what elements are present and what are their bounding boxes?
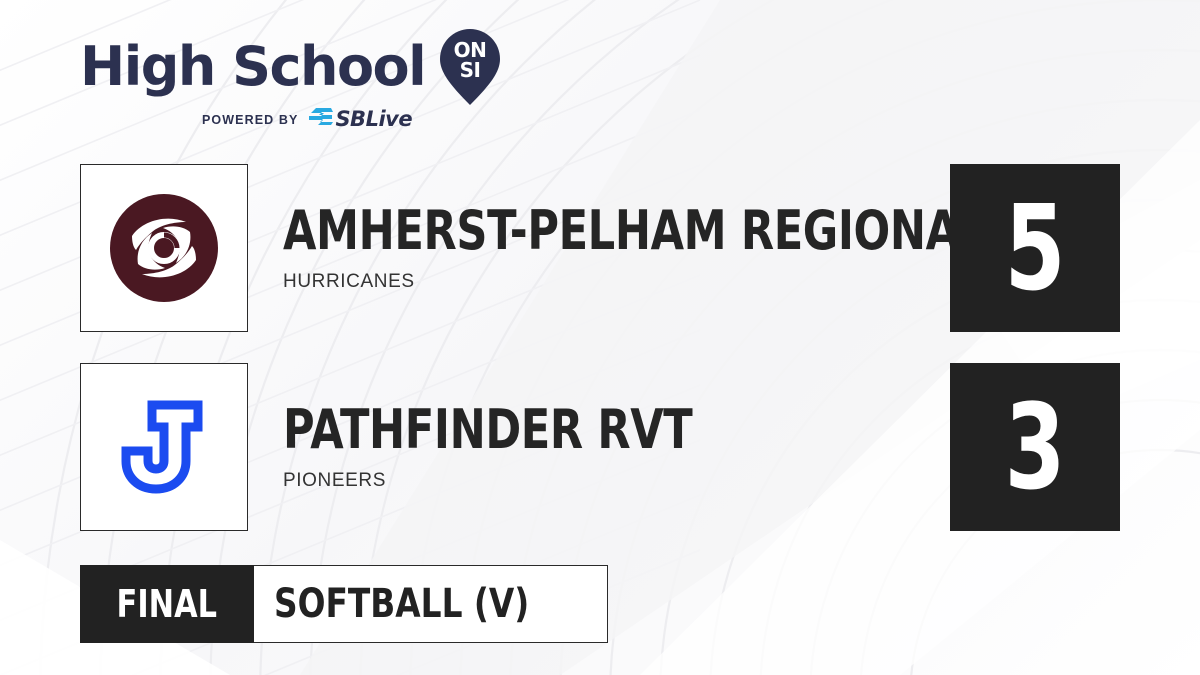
team-text-block: PATHFINDER RVT PIONEERS (283, 363, 795, 531)
sblive-s-mark-icon (307, 106, 333, 133)
team-row: AMHERST-PELHAM REGIONAL HURRICANES 5 (80, 164, 1120, 334)
scoreboard-graphic: High School ON SI POWERED BY SBLive (0, 0, 1200, 675)
on-si-pin-icon: ON SI (437, 27, 503, 107)
team-score-box: 5 (950, 164, 1120, 332)
svg-text:SI: SI (460, 58, 481, 82)
team-logo-tile (80, 363, 248, 531)
team-name: PATHFINDER RVT (283, 402, 692, 458)
sport-label-box: SOFTBALL (V) (254, 565, 608, 643)
team-score: 5 (1005, 189, 1066, 307)
team-logo-tile (80, 164, 248, 332)
varsity-letter-j-logo-icon (108, 391, 220, 503)
sblive-logo: SBLive (307, 106, 412, 133)
brand-wordmark: High School (80, 37, 425, 97)
brand-wordmark-row: High School ON SI (80, 36, 510, 98)
team-score-box: 3 (950, 363, 1120, 531)
brand-logo: High School ON SI POWERED BY SBLive (80, 36, 510, 136)
team-row: PATHFINDER RVT PIONEERS 3 (80, 363, 1120, 533)
status-label: FINAL (117, 584, 217, 624)
sport-label: SOFTBALL (V) (274, 583, 529, 625)
team-score: 3 (1005, 388, 1066, 506)
sblive-wordmark: SBLive (335, 109, 412, 130)
team-name: AMHERST-PELHAM REGIONAL (283, 203, 986, 259)
status-badge: FINAL (80, 565, 254, 643)
powered-by-row: POWERED BY SBLive (202, 106, 510, 133)
powered-by-label: POWERED BY (202, 113, 298, 127)
game-status-bar: FINAL SOFTBALL (V) (80, 565, 608, 643)
team-mascot: PIONEERS (283, 470, 795, 492)
hurricane-swirl-logo-icon (108, 192, 220, 304)
